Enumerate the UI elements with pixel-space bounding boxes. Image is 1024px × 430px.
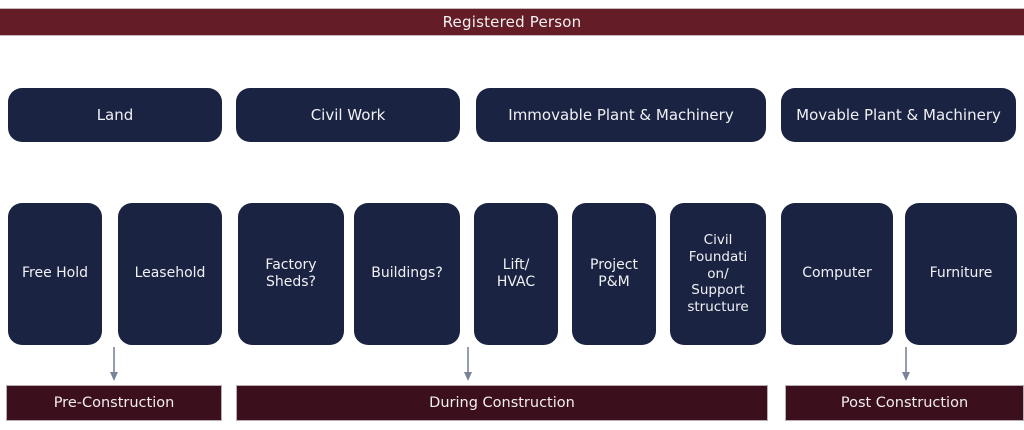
phase-band-during-construction[interactable]: During Construction (236, 385, 768, 421)
leaf-box-factory-sheds[interactable]: Factory Sheds? (238, 203, 344, 345)
leaf-box-furniture[interactable]: Furniture (905, 203, 1017, 345)
arrow-post-construction-icon (899, 347, 913, 383)
category-box-label: Civil Work (305, 106, 392, 125)
category-box-label: Movable Plant & Machinery (790, 106, 1007, 125)
leaf-box-label: Factory Sheds? (259, 257, 322, 292)
leaf-box-free-hold[interactable]: Free Hold (8, 203, 102, 345)
category-box-label: Immovable Plant & Machinery (502, 106, 739, 125)
leaf-box-label: Furniture (924, 265, 999, 283)
leaf-box-label: Project P&M (584, 257, 644, 292)
diagram-canvas: Registered Person LandCivil WorkImmovabl… (0, 0, 1024, 430)
phase-band-pre-construction[interactable]: Pre-Construction (6, 385, 222, 421)
category-box-land[interactable]: Land (8, 88, 222, 142)
leaf-box-label: Leasehold (129, 265, 212, 283)
category-box-movable-plant-and-machinery[interactable]: Movable Plant & Machinery (781, 88, 1016, 142)
leaf-box-project-pandm[interactable]: Project P&M (572, 203, 656, 345)
leaf-box-buildings[interactable]: Buildings? (354, 203, 460, 345)
leaf-box-label: Computer (796, 265, 878, 283)
leaf-box-computer[interactable]: Computer (781, 203, 893, 345)
category-box-immovable-plant-and-machinery[interactable]: Immovable Plant & Machinery (476, 88, 766, 142)
category-box-label: Land (91, 106, 140, 125)
registered-person-label: Registered Person (443, 15, 582, 30)
leaf-box-leasehold[interactable]: Leasehold (118, 203, 222, 345)
leaf-box-label: Civil Foundati on/ Support structure (681, 232, 754, 316)
leaf-box-civil-foundati-on-support-structure[interactable]: Civil Foundati on/ Support structure (670, 203, 766, 345)
leaf-box-label: Free Hold (16, 265, 94, 283)
leaf-box-label: Lift/ HVAC (491, 257, 541, 292)
leaf-box-lift-hvac[interactable]: Lift/ HVAC (474, 203, 558, 345)
phase-band-label: Pre-Construction (54, 396, 175, 411)
phase-band-label: During Construction (429, 396, 575, 411)
leaf-box-label: Buildings? (365, 265, 449, 283)
arrow-during-construction-icon (461, 347, 475, 383)
phase-band-label: Post Construction (841, 396, 968, 411)
category-box-civil-work[interactable]: Civil Work (236, 88, 460, 142)
arrow-pre-construction-icon (107, 347, 121, 383)
registered-person-banner: Registered Person (0, 8, 1024, 36)
phase-band-post-construction[interactable]: Post Construction (785, 385, 1024, 421)
